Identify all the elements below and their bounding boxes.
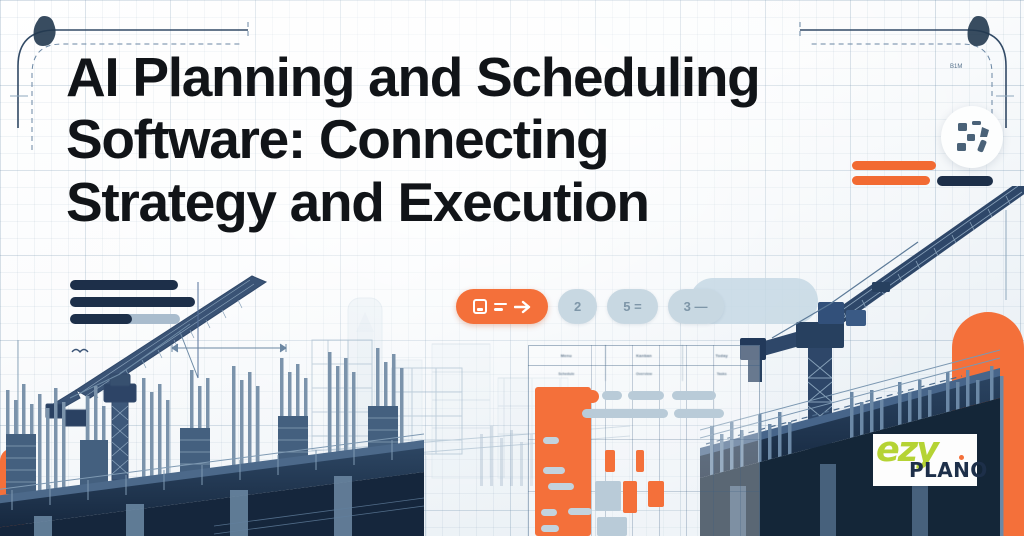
gantt-bar-orange-4[interactable] — [648, 481, 664, 507]
gantt-header-col-2: Kanban — [606, 345, 684, 365]
construction-scene-left — [0, 258, 424, 536]
gantt-subheader-col-1: Schedule — [528, 366, 606, 381]
pill-button-active[interactable] — [456, 289, 548, 324]
gantt-sidebar-chip-1 — [543, 437, 559, 444]
gantt-top-pill-2 — [628, 391, 664, 400]
gantt-header-col-3: Today — [683, 345, 760, 365]
gantt-top-pill-3 — [672, 391, 716, 400]
pill-button-3[interactable]: 5 = — [607, 289, 657, 324]
corner-emblem-right — [968, 16, 990, 46]
gantt-col-rule-6 — [713, 345, 714, 536]
gantt-sidebar-chip-6 — [541, 525, 559, 532]
svg-text:B1M: B1M — [950, 64, 962, 70]
document-icon — [473, 299, 487, 314]
decor-bar-left-2 — [70, 297, 195, 307]
gantt-col-rule-1 — [591, 345, 592, 536]
dash-icon — [494, 303, 507, 311]
gantt-panel[interactable]: Menu Kanban Today Schedule Overview Task… — [528, 345, 760, 536]
gantt-sidebar-chip-3 — [548, 483, 574, 490]
gantt-sidebar-chip-5 — [568, 508, 592, 515]
pill-button-4[interactable]: 3 — — [668, 289, 724, 324]
gantt-bar-orange-2[interactable] — [636, 450, 644, 472]
brand-logo[interactable]: ezy PLANO — [873, 434, 977, 486]
poster-canvas: B1M AI Planning and Scheduling Software:… — [0, 0, 1024, 536]
gantt-subheader-row: Schedule Overview Tasks — [528, 366, 760, 381]
network-nodes-badge — [941, 106, 1003, 168]
pill-button-2[interactable]: 2 — [558, 289, 597, 324]
gantt-bar-grey-2[interactable] — [597, 517, 627, 536]
gantt-top-pill-1 — [602, 391, 622, 400]
title-line-3: Strategy and Execution — [66, 171, 916, 233]
gantt-sidebar-chip-2 — [543, 467, 565, 474]
pill-label-2: 2 — [574, 299, 581, 314]
pill-label-4: 3 — — [684, 299, 708, 314]
decor-bar-left-3 — [70, 314, 132, 324]
gantt-top-pill-5 — [674, 409, 724, 418]
view-mode-toolbar[interactable]: 2 5 = 3 — — [456, 289, 724, 324]
gantt-header-row: Menu Kanban Today — [528, 345, 760, 366]
gantt-sidebar-chip-4 — [541, 509, 557, 516]
gantt-bar-orange-3[interactable] — [623, 481, 637, 513]
rebar-columns-left — [6, 348, 404, 496]
gantt-subheader-col-2: Overview — [606, 366, 684, 381]
network-nodes-icon — [941, 106, 1003, 168]
concrete-slab-left — [0, 434, 424, 536]
corner-emblem-left — [34, 16, 56, 46]
logo-submark: PLANO — [909, 460, 988, 480]
decor-bar-left-1 — [70, 280, 178, 290]
gantt-subheader-col-3: Tasks — [683, 366, 760, 381]
gantt-top-pill-4 — [582, 409, 668, 418]
gantt-bar-orange-1[interactable] — [605, 450, 615, 472]
title-line-1: AI Planning and Scheduling — [66, 46, 916, 108]
page-title: AI Planning and Scheduling Software: Con… — [66, 46, 916, 233]
orange-arch-shape-small — [0, 448, 26, 536]
decor-bar-right-3 — [937, 176, 993, 186]
orange-arch-shape — [952, 312, 1024, 536]
gantt-col-rule-7 — [740, 345, 741, 536]
title-line-2: Software: Connecting — [66, 108, 916, 170]
gantt-bar-grey-1[interactable] — [595, 481, 621, 511]
pill-label-3: 5 = — [623, 299, 641, 314]
gantt-header-col-1: Menu — [528, 345, 606, 365]
gantt-col-rule-4 — [659, 345, 660, 536]
gantt-col-rule-5 — [686, 345, 687, 536]
arrow-right-icon — [514, 300, 531, 314]
